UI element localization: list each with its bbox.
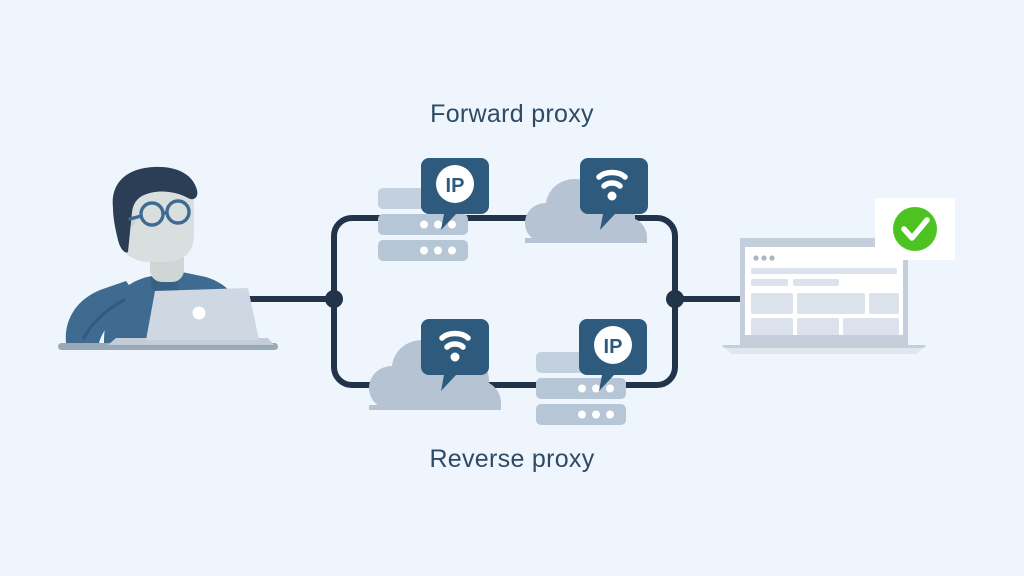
server-led-icon bbox=[606, 385, 614, 393]
server-led-icon bbox=[448, 247, 456, 255]
status-badge-card[interactable] bbox=[875, 198, 955, 260]
laptop-foot-edge bbox=[722, 345, 926, 348]
network-diagram-illustration: IP bbox=[0, 0, 1024, 576]
wireframe-block bbox=[797, 318, 839, 337]
server-rack-2 bbox=[536, 378, 626, 399]
server-rack-3 bbox=[378, 240, 468, 261]
browser-dot-icon bbox=[769, 255, 774, 260]
reverse-proxy-label: Reverse proxy bbox=[0, 445, 1024, 474]
server-rack-2 bbox=[378, 214, 468, 235]
server-led-icon bbox=[606, 411, 614, 419]
server-led-icon bbox=[434, 221, 442, 229]
wireframe-block bbox=[843, 318, 899, 337]
check-circle-icon bbox=[893, 207, 937, 251]
server-led-icon bbox=[592, 385, 600, 393]
diagram-canvas: IP bbox=[0, 0, 1024, 576]
server-led-icon bbox=[420, 221, 428, 229]
wireframe-block bbox=[751, 318, 793, 337]
ip-badge-text: IP bbox=[446, 175, 465, 197]
laptop-logo-icon bbox=[193, 307, 206, 320]
wireframe-block bbox=[797, 293, 865, 314]
server-rack-3 bbox=[536, 404, 626, 425]
browser-dot-icon bbox=[753, 255, 758, 260]
wifi-dot bbox=[608, 192, 617, 201]
cloud-base bbox=[525, 238, 647, 243]
server-led-icon bbox=[578, 411, 586, 419]
wireframe-block bbox=[869, 293, 899, 314]
junction-right bbox=[666, 290, 684, 308]
browser-dot-icon bbox=[761, 255, 766, 260]
server-led-icon bbox=[592, 411, 600, 419]
server-led-icon bbox=[448, 221, 456, 229]
wireframe-nav-pill bbox=[751, 279, 788, 286]
client-person-illustration bbox=[58, 167, 278, 350]
server-led-icon bbox=[578, 385, 586, 393]
forward-proxy-label: Forward proxy bbox=[0, 100, 1024, 129]
server-led-icon bbox=[434, 247, 442, 255]
server-led-icon bbox=[420, 247, 428, 255]
wireframe-header-line bbox=[751, 268, 897, 274]
wifi-dot bbox=[451, 353, 460, 362]
cloud-base bbox=[369, 405, 501, 410]
wireframe-block bbox=[751, 293, 793, 314]
wireframe-nav-pill bbox=[793, 279, 839, 286]
ip-badge-text: IP bbox=[604, 336, 623, 358]
junction-left bbox=[325, 290, 343, 308]
